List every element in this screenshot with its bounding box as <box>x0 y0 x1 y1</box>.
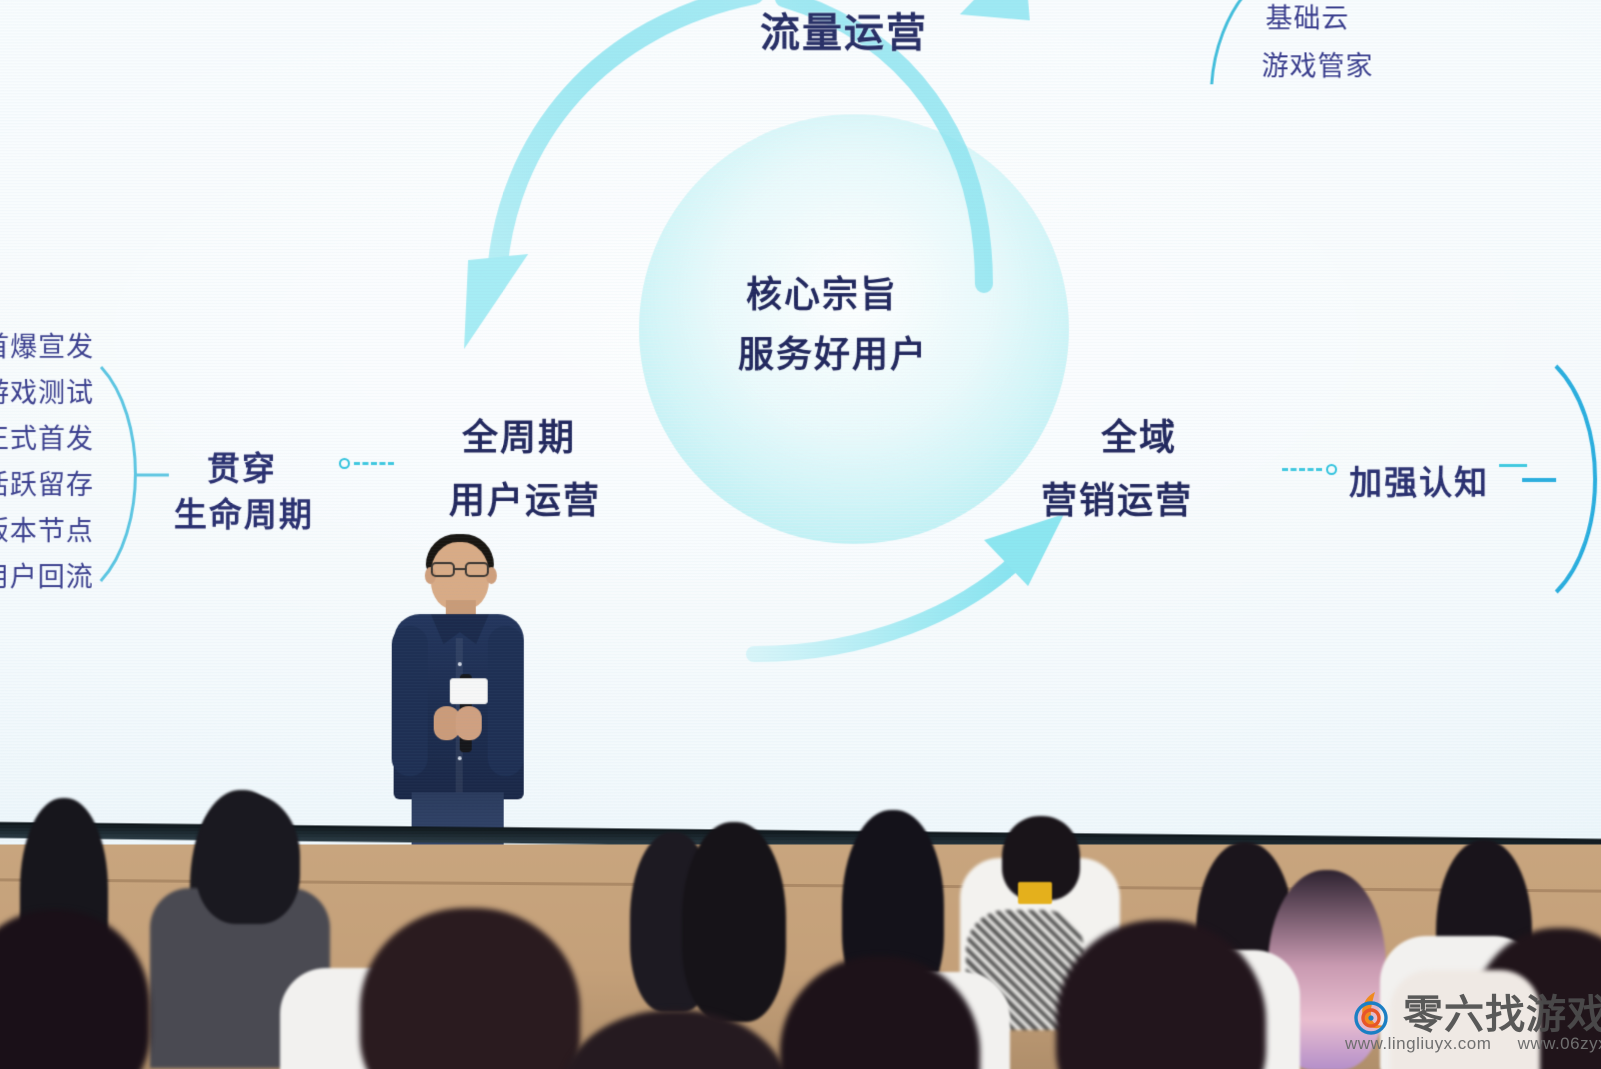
top-right-arc-icon <box>1206 0 1276 94</box>
pillar-right-line2: 营销运营 <box>1041 472 1193 524</box>
right-bracket-icon <box>1522 364 1601 594</box>
core-purpose-line2: 服务好用户 <box>738 326 928 378</box>
pillar-middle-line1: 全周期 <box>462 409 576 461</box>
cloud-tag-2: 游戏管家 <box>1262 44 1374 83</box>
connector-right-b <box>1499 464 1527 467</box>
list-item: 首爆宣发 <box>0 324 102 370</box>
pillar-left-line1: 贯穿 <box>207 442 277 490</box>
watermark-urls: www.lingliuyx.com www.06zyx.com <box>1345 1034 1601 1054</box>
brand-logo-icon <box>1345 986 1399 1040</box>
slide-title-top: 流量运营 <box>760 0 928 58</box>
speaker-hand-right <box>456 706 482 740</box>
left-bracket-icon <box>89 359 179 589</box>
watermark-brand: 零六找游戏 <box>1403 982 1601 1040</box>
list-item: 活跃留存 <box>0 462 102 508</box>
connector-dot-icon <box>339 458 350 469</box>
projection-screen: 流量运营 核心宗旨 服务好用户 全周期 用户运营 全域 营销运营 贯穿 生命周期… <box>0 0 1601 844</box>
list-item: 正式首发 <box>0 416 102 462</box>
lifecycle-phase-list: 首爆宣发 游戏测试 正式首发 活跃留存 版本节点 用户回流 <box>0 324 102 600</box>
watermark: 零六找游戏 www.lingliuyx.com www.06zyx.com <box>1345 978 1597 1064</box>
pillar-left-line2: 生命周期 <box>174 488 314 536</box>
right-label: 加强认知 <box>1349 456 1489 504</box>
connector-dash-icon <box>354 462 394 465</box>
speaker-arm-left <box>392 626 428 776</box>
speaker-arm-right <box>488 626 524 776</box>
pillar-right-line1: 全域 <box>1101 409 1177 461</box>
watermark-url-secondary: www.06zyx.com <box>1518 1034 1601 1053</box>
connector-left <box>339 458 394 469</box>
list-item: 游戏测试 <box>0 370 102 416</box>
speaker-glasses-icon <box>431 562 489 577</box>
connector-right-a <box>1282 464 1337 475</box>
cloud-tag-1: 基础云 <box>1265 0 1349 35</box>
core-purpose-line1: 核心宗旨 <box>746 266 898 318</box>
pillar-middle-line2: 用户运营 <box>449 472 601 524</box>
audience-head <box>682 822 786 1022</box>
audience-head <box>0 910 150 1069</box>
conference-photo: 流量运营 核心宗旨 服务好用户 全周期 用户运营 全域 营销运营 贯穿 生命周期… <box>0 0 1601 1069</box>
connector-dash-icon <box>1282 468 1322 471</box>
list-item: 用户回流 <box>0 554 102 600</box>
list-item: 版本节点 <box>0 508 102 554</box>
watermark-url-primary: www.lingliuyx.com <box>1345 1034 1491 1053</box>
connector-dot-icon <box>1326 464 1337 475</box>
presentation-slide: 流量运营 核心宗旨 服务好用户 全周期 用户运营 全域 营销运营 贯穿 生命周期… <box>0 0 1601 844</box>
connector-dash-icon <box>1499 464 1527 467</box>
audience-head <box>360 908 580 1069</box>
badge <box>1018 882 1052 904</box>
audience-head <box>196 794 300 924</box>
microphone-flag <box>450 678 488 704</box>
